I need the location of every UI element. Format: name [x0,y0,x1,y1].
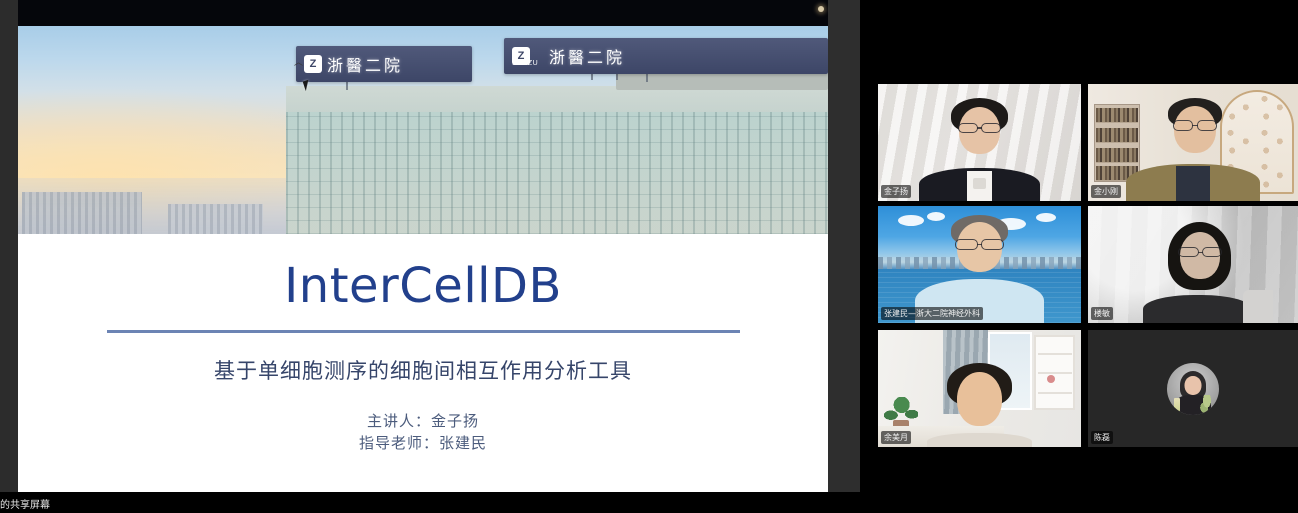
slide-title: InterCellDB [18,258,828,314]
slide-text-block: InterCellDB 基于单细胞测序的细胞间相互作用分析工具 主讲人：金子扬 … [18,234,828,492]
share-top-strip [18,0,828,26]
participant-video-off [1088,330,1298,447]
share-status-text: 的共享屏幕 [0,496,50,511]
presentation-slide[interactable]: Z 浙醫二院 Z SAHZU 浙醫二院 ︿ InterCellDB 基于单细胞测… [18,26,828,492]
participant-tile[interactable]: 陈磊 [1088,330,1298,447]
building-sign-right-text: 浙醫二院 [549,44,625,68]
participant-name-label: 金子扬 [881,185,911,198]
participant-name-label: 张建民—浙大二院神经外科 [881,307,983,320]
participant-tile[interactable]: 金小刚 [1088,84,1298,201]
participant-name-label: 金小刚 [1091,185,1121,198]
share-status-bar: 的共享屏幕 [0,492,860,513]
participant-video [1088,206,1298,323]
slide-header-image: Z 浙醫二院 Z SAHZU 浙醫二院 ︿ [18,26,828,234]
participant-video [1088,84,1298,201]
share-left-gutter [0,0,18,492]
participant-video [878,84,1081,201]
participant-tile[interactable]: 楼敏 [1088,206,1298,323]
participant-name-label: 余美月 [881,431,911,444]
participant-video [878,330,1081,447]
room-bookcase [1034,335,1075,410]
share-right-gutter [828,0,860,492]
participant-name-label: 陈磊 [1091,431,1113,444]
sahzu-abbrev-text: SAHZU [512,60,538,67]
meeting-window: Z 浙醫二院 Z SAHZU 浙醫二院 ︿ InterCellDB 基于单细胞测… [0,0,1298,513]
advisor-line: 指导老师：张建民 [18,433,828,455]
avatar [1167,363,1219,415]
shared-screen-region[interactable]: Z 浙醫二院 Z SAHZU 浙醫二院 ︿ InterCellDB 基于单细胞测… [0,0,860,513]
participant-name-label: 楼敏 [1091,307,1113,320]
slide-subtitle: 基于单细胞测序的细胞间相互作用分析工具 [18,355,828,385]
participant-tile[interactable]: 余美月 [878,330,1081,447]
slide-divider-rule [107,330,740,333]
bird-icon: ︿ [294,59,303,65]
building-sign-right: Z SAHZU 浙醫二院 [504,38,828,74]
building-glass-facade [286,112,828,234]
presenter-line: 主讲人：金子扬 [18,411,828,433]
participant-tile[interactable]: 金子扬 [878,84,1081,201]
building-sign-left: Z 浙醫二院 [296,46,472,82]
participant-tile[interactable]: 张建民—浙大二院神经外科 [878,206,1081,323]
hospital-building [286,86,828,234]
bookshelf [1094,104,1140,182]
recording-dot-icon [818,6,824,12]
participant-video [878,206,1081,323]
building-sign-left-text: 浙醫二院 [327,52,403,76]
sahzu-logo-icon: Z [304,55,322,73]
slide-presenter-block: 主讲人：金子扬 指导老师：张建民 [18,411,828,455]
participant-filmstrip[interactable]: 金子扬 金小刚 [860,0,1298,513]
